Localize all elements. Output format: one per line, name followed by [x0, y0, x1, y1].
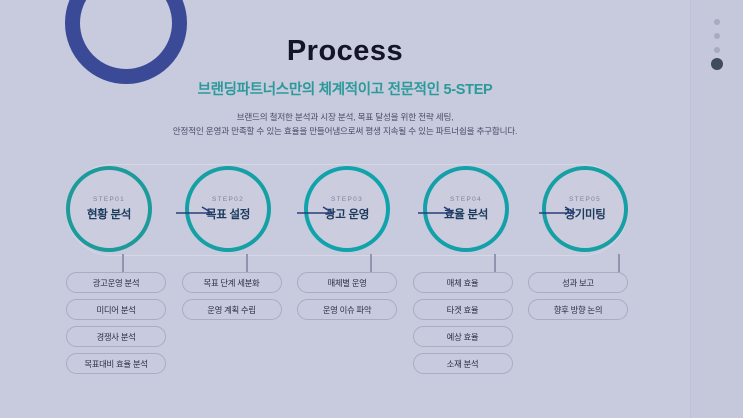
page-title: Process — [0, 35, 690, 68]
list-item[interactable]: 예상 효율 — [413, 326, 513, 347]
list-item[interactable]: 매체별 운영 — [297, 272, 397, 293]
step-circle-1[interactable]: STEP01 현황 분석 — [66, 166, 152, 252]
page-subtitle: 브랜딩파트너스만의 체계적이고 전문적인 5-STEP — [0, 78, 690, 99]
step-number-2: STEP02 — [212, 196, 244, 203]
step-number-3: STEP03 — [331, 196, 363, 203]
connector-stem — [246, 254, 248, 273]
pill-column-1: 광고운영 분석 미디어 분석 경쟁사 분석 목표대비 효율 분석 — [66, 272, 166, 374]
list-item[interactable]: 미디어 분석 — [66, 299, 166, 320]
arrow-icon — [176, 206, 218, 216]
step-item[interactable]: STEP01 현황 분석 — [66, 166, 152, 252]
list-item[interactable]: 목표 단계 세분화 — [182, 272, 282, 293]
connector-stem — [122, 254, 124, 273]
slide-canvas: Process 브랜딩파트너스만의 체계적이고 전문적인 5-STEP 브랜드의… — [0, 0, 743, 418]
list-item[interactable]: 경쟁사 분석 — [66, 326, 166, 347]
list-item[interactable]: 타겟 효율 — [413, 299, 513, 320]
pill-column-5: 성과 보고 향후 방향 논의 — [528, 272, 628, 374]
pagination-dot-1[interactable] — [714, 19, 720, 25]
slide-header: Process 브랜딩파트너스만의 체계적이고 전문적인 5-STEP 브랜드의… — [0, 0, 690, 139]
list-item[interactable]: 운영 계획 수립 — [182, 299, 282, 320]
right-rail — [690, 0, 743, 418]
description-line-2: 안정적인 운영과 만족할 수 있는 효율을 만들어냄으로써 평생 지속될 수 있… — [0, 125, 690, 139]
arrow-icon — [297, 206, 339, 216]
step-number-5: STEP05 — [569, 196, 601, 203]
pill-column-2: 목표 단계 세분화 운영 계획 수립 — [182, 272, 282, 374]
pagination-dot-4-active[interactable] — [711, 58, 723, 70]
arrow-icon — [418, 206, 460, 216]
step-label-1: 현황 분석 — [87, 206, 131, 222]
pagination-dot-3[interactable] — [714, 47, 720, 53]
arrow-icon — [539, 206, 581, 216]
step-number-4: STEP04 — [450, 196, 482, 203]
pagination-dot-2[interactable] — [714, 33, 720, 39]
list-item[interactable]: 향후 방향 논의 — [528, 299, 628, 320]
pill-column-3: 매체별 운영 운영 이슈 파악 — [297, 272, 397, 374]
connector-stem — [494, 254, 496, 273]
list-item[interactable]: 성과 보고 — [528, 272, 628, 293]
description-line-1: 브랜드의 철저한 분석과 시장 분석, 목표 달성을 위한 전략 세팅, — [0, 111, 690, 125]
step-number-1: STEP01 — [93, 196, 125, 203]
list-item[interactable]: 광고운영 분석 — [66, 272, 166, 293]
pill-column-4: 매체 효율 타겟 효율 예상 효율 소재 분석 — [413, 272, 513, 374]
list-item[interactable]: 매체 효율 — [413, 272, 513, 293]
detail-pill-columns: 광고운영 분석 미디어 분석 경쟁사 분석 목표대비 효율 분석 목표 단계 세… — [66, 272, 628, 374]
connector-stem — [618, 254, 620, 273]
list-item[interactable]: 목표대비 효율 분석 — [66, 353, 166, 374]
connector-stem — [370, 254, 372, 273]
list-item[interactable]: 소재 분석 — [413, 353, 513, 374]
page-description: 브랜드의 철저한 분석과 시장 분석, 목표 달성을 위한 전략 세팅, 안정적… — [0, 111, 690, 139]
list-item[interactable]: 운영 이슈 파악 — [297, 299, 397, 320]
